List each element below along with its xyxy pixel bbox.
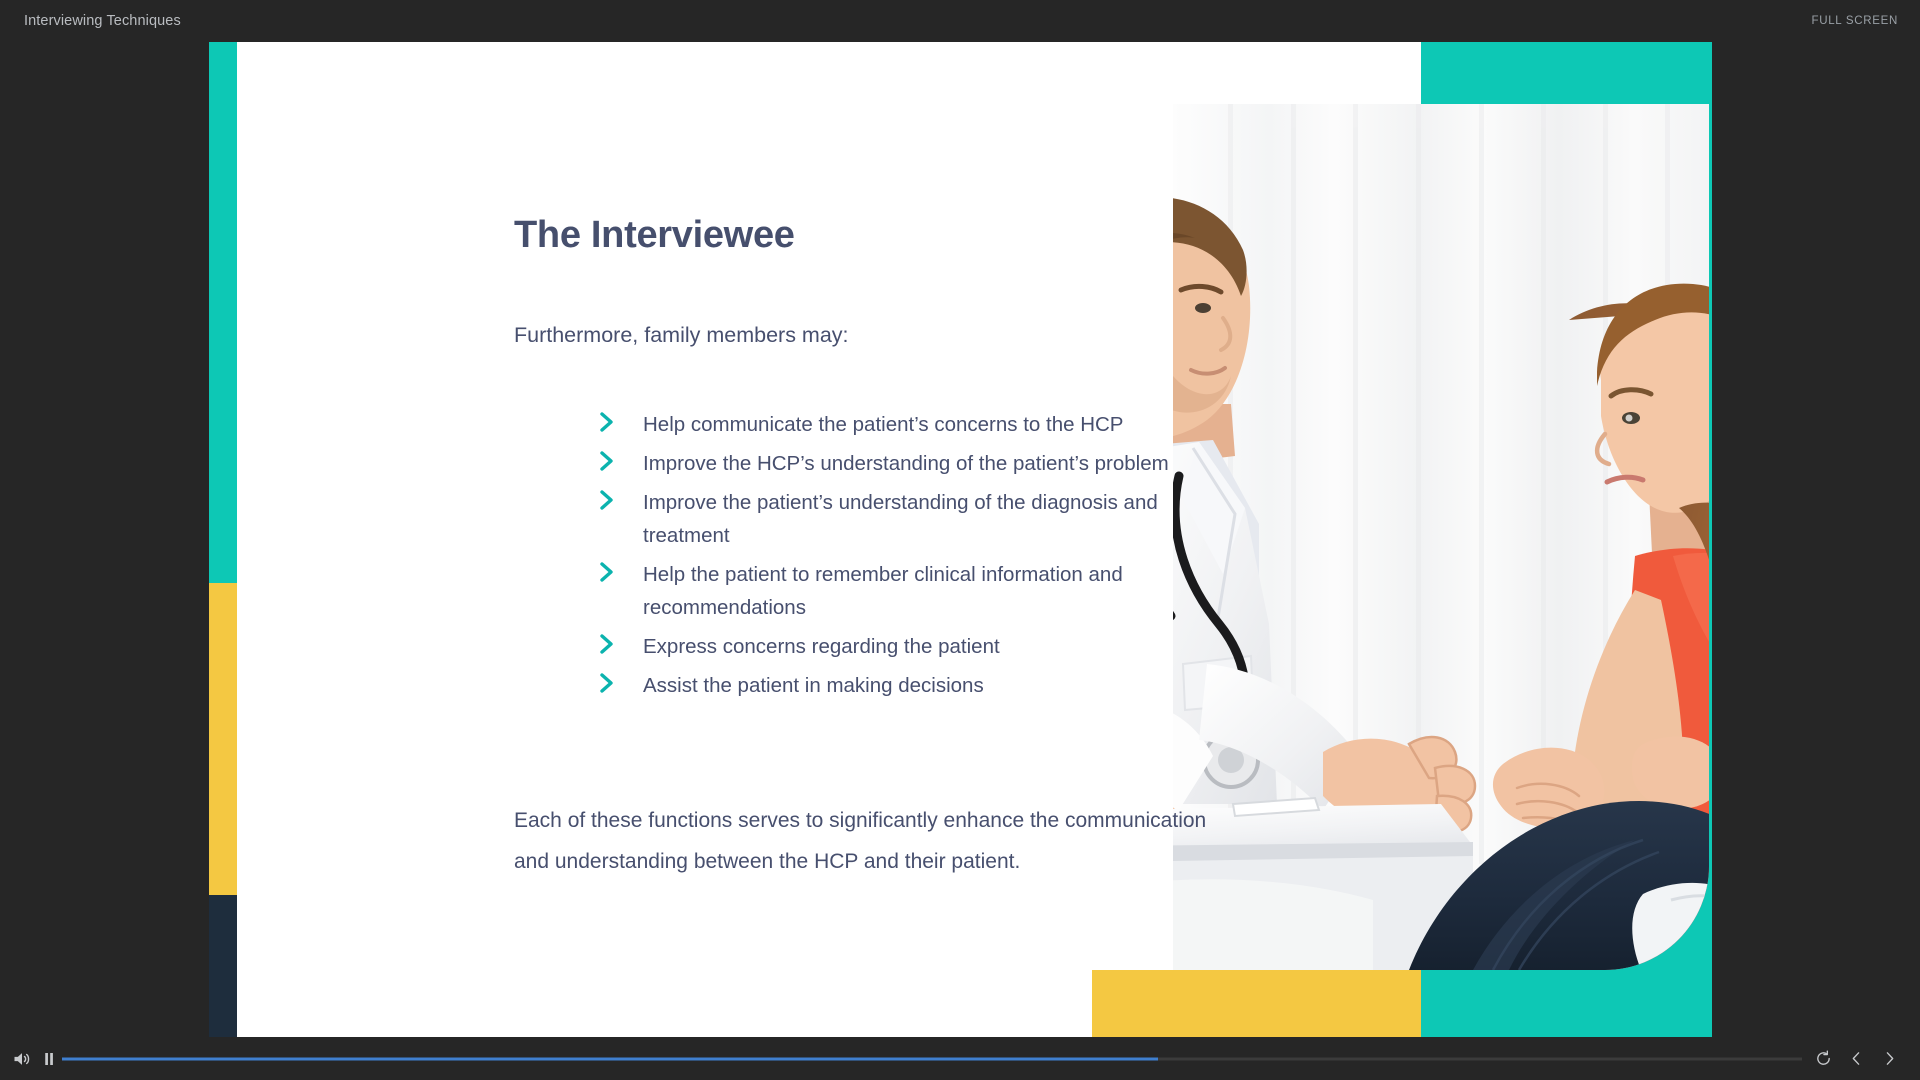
chevron-right-icon	[598, 488, 616, 512]
bullet-item: Help the patient to remember clinical in…	[596, 558, 1236, 624]
previous-slide-button[interactable]	[1845, 1048, 1867, 1070]
bullet-item: Improve the HCP’s understanding of the p…	[596, 447, 1236, 480]
chevron-right-icon	[598, 449, 616, 473]
next-slide-button[interactable]	[1878, 1048, 1900, 1070]
bullet-text: Improve the HCP’s understanding of the p…	[643, 452, 1169, 475]
pause-button[interactable]	[38, 1048, 60, 1070]
intro-text: Furthermore, family members may:	[514, 323, 849, 348]
chevron-right-icon	[598, 671, 616, 695]
playback-control-bar	[0, 1037, 1920, 1080]
top-bar: Interviewing Techniques FULL SCREEN	[0, 0, 1920, 45]
bullet-text: Improve the patient’s understanding of t…	[643, 491, 1158, 547]
slide-canvas: The Interviewee Furthermore, family memb…	[209, 42, 1712, 1037]
bullet-text: Assist the patient in making decisions	[643, 674, 984, 697]
chevron-right-icon	[598, 560, 616, 584]
bullet-item: Assist the patient in making decisions	[596, 669, 1236, 702]
volume-icon[interactable]	[10, 1047, 34, 1071]
fullscreen-button[interactable]: FULL SCREEN	[1811, 15, 1898, 27]
consultation-photo	[1173, 104, 1709, 970]
bullet-text: Express concerns regarding the patient	[643, 635, 1000, 658]
right-panel-notch	[1389, 42, 1421, 96]
left-accent-bar-navy	[209, 895, 237, 1037]
bullet-item: Help communicate the patient’s concerns …	[596, 408, 1236, 441]
bottom-accent-band-yellow	[1092, 970, 1421, 1037]
progress-bar[interactable]	[62, 1057, 1802, 1060]
slide-title: The Interviewee	[514, 214, 795, 257]
slide-text-column: The Interviewee Furthermore, family memb…	[306, 42, 1096, 1037]
chevron-right-icon	[598, 632, 616, 656]
bullet-list: Help communicate the patient’s concerns …	[596, 408, 1236, 708]
bullet-text: Help the patient to remember clinical in…	[643, 563, 1123, 619]
left-accent-bar-teal	[209, 42, 237, 583]
course-title: Interviewing Techniques	[24, 13, 181, 29]
bullet-text: Help communicate the patient’s concerns …	[643, 413, 1123, 436]
closing-text: Each of these functions serves to signif…	[514, 800, 1229, 882]
left-accent-bar-yellow	[209, 583, 237, 895]
chevron-right-icon	[598, 410, 616, 434]
progress-bar-fill	[62, 1057, 1158, 1060]
bullet-item: Express concerns regarding the patient	[596, 630, 1236, 663]
bullet-item: Improve the patient’s understanding of t…	[596, 486, 1236, 552]
replay-icon[interactable]	[1812, 1048, 1834, 1070]
